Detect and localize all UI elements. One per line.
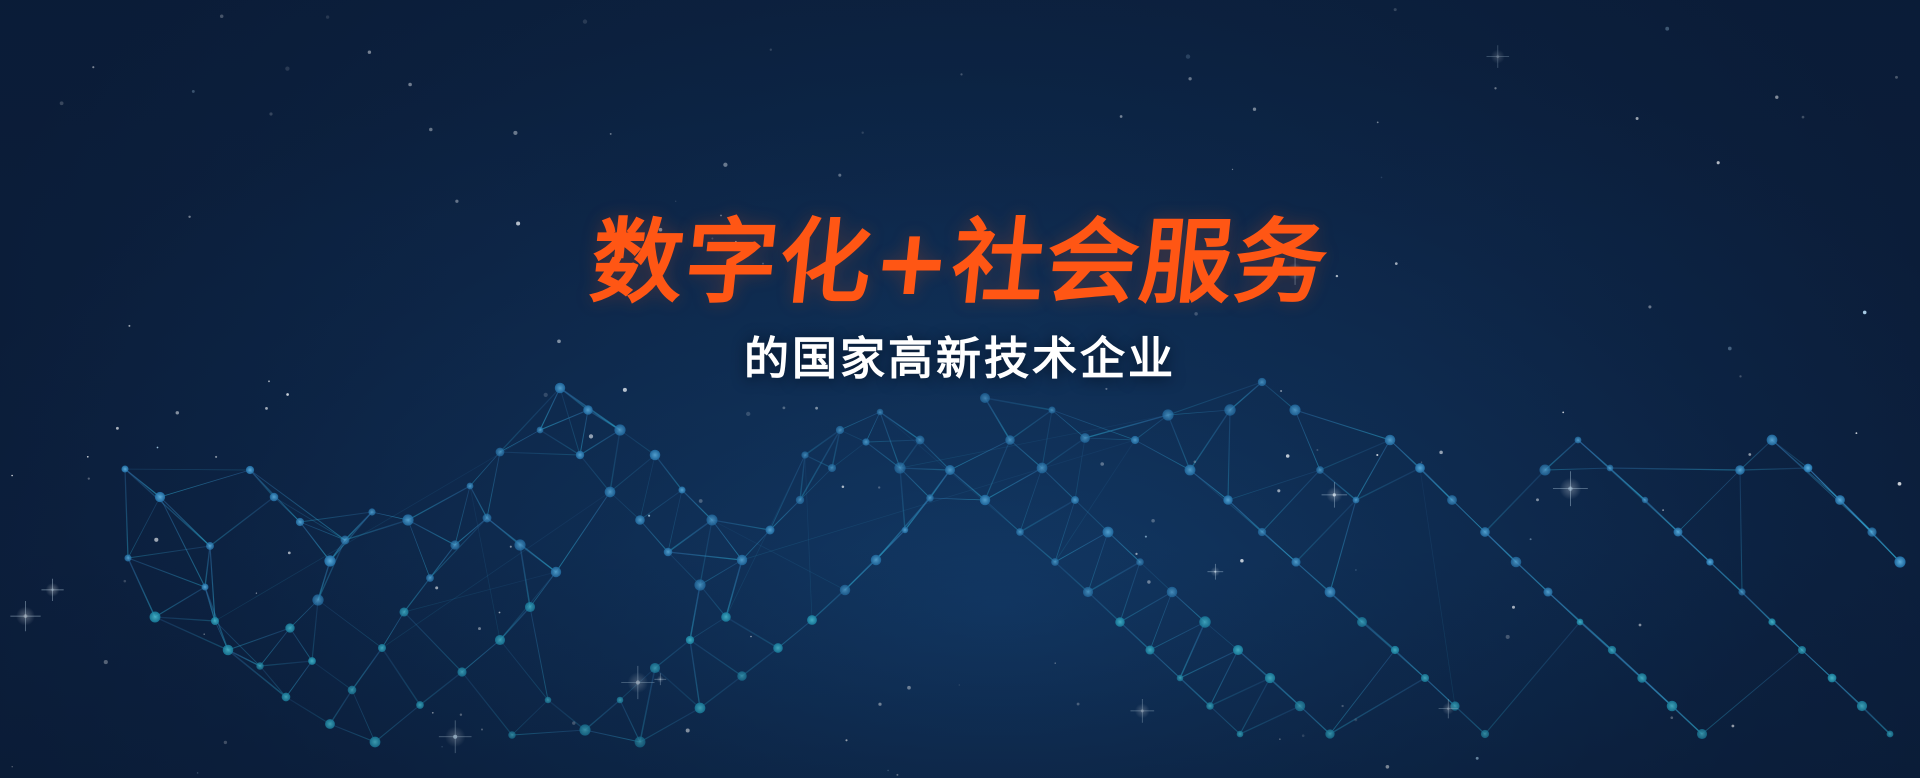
banner-root: 数字化+社会服务 的国家高新技术企业 <box>0 0 1920 778</box>
banner-text-block: 数字化+社会服务 的国家高新技术企业 <box>0 214 1920 383</box>
banner-headline: 数字化+社会服务 <box>0 214 1920 312</box>
background-gradient <box>0 0 1920 778</box>
banner-subheadline: 的国家高新技术企业 <box>0 334 1920 384</box>
